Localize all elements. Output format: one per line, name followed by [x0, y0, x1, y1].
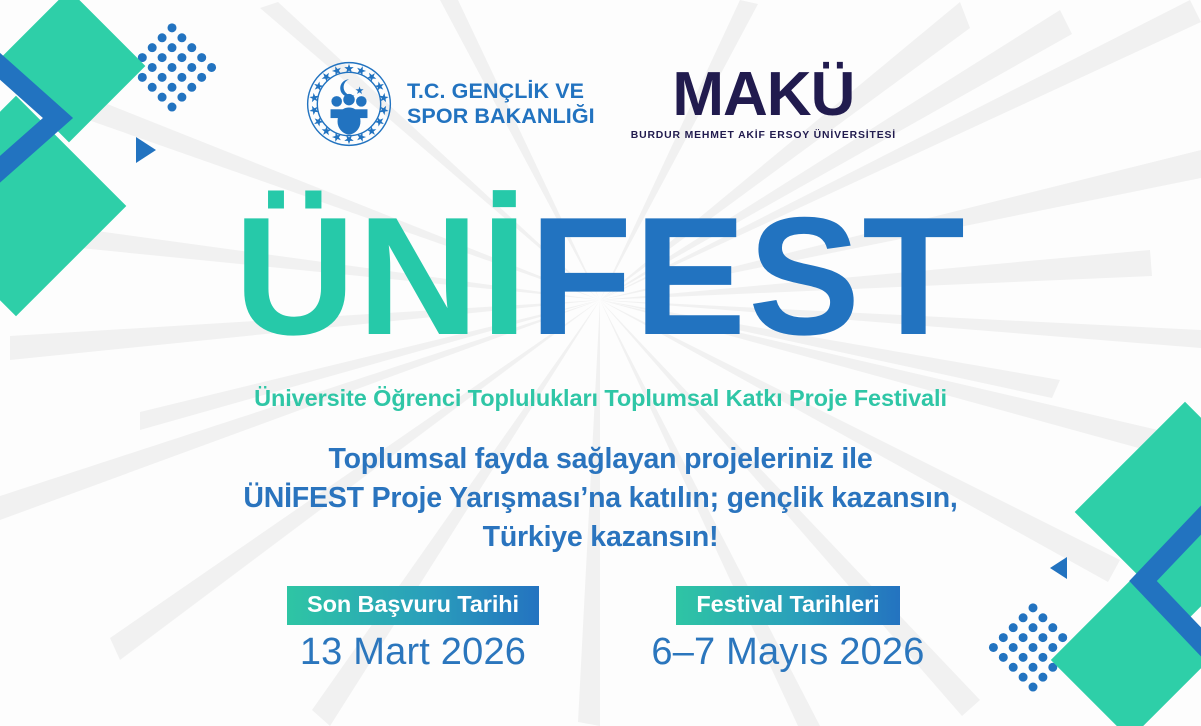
poster-canvas: .dotgrid i{width:9px;height:9px;}	[0, 0, 1201, 726]
ministry-line1: T.C. GENÇLİK VE	[407, 79, 595, 104]
body-line-3: Türkiye kazansın!	[0, 518, 1201, 557]
ministry-line2: SPOR BAKANLIĞI	[407, 104, 595, 129]
main-title: ÜNİFEST	[0, 192, 1201, 360]
body-copy: Toplumsal fayda sağlayan projeleriniz il…	[0, 440, 1201, 557]
tc-genclik-spor-bakanligi-emblem-icon	[305, 60, 393, 148]
festival-date-value: 6–7 Mayıs 2026	[623, 631, 953, 674]
deadline-badge-label: Son Başvuru Tarihi	[287, 586, 539, 625]
maku-subtitle: BURDUR MEHMET AKİF ERSOY ÜNİVERSİTESİ	[631, 130, 896, 141]
university-logo: MAKÜ BURDUR MEHMET AKİF ERSOY ÜNİVERSİTE…	[631, 70, 896, 141]
body-line-2: ÜNİFEST Proje Yarışması’na katılın; genç…	[0, 479, 1201, 518]
deadline-date-value: 13 Mart 2026	[248, 631, 578, 674]
ministry-logo: T.C. GENÇLİK VE SPOR BAKANLIĞI	[305, 60, 595, 148]
title-part-teal: ÜNİ	[234, 182, 529, 370]
date-block-deadline: Son Başvuru Tarihi 13 Mart 2026	[248, 586, 578, 674]
header-logos: T.C. GENÇLİK VE SPOR BAKANLIĞI MAKÜ BURD…	[0, 60, 1201, 148]
festival-badge-label: Festival Tarihleri	[676, 586, 899, 625]
date-blocks: Son Başvuru Tarihi 13 Mart 2026 Festival…	[0, 586, 1201, 674]
maku-wordmark: MAKÜ	[631, 70, 896, 121]
title-tagline: Üniversite Öğrenci Toplulukları Toplumsa…	[0, 385, 1201, 412]
blue-triangle-left-icon	[1050, 557, 1067, 579]
date-block-festival: Festival Tarihleri 6–7 Mayıs 2026	[623, 586, 953, 674]
title-part-blue: FEST	[529, 182, 966, 370]
ministry-logo-text: T.C. GENÇLİK VE SPOR BAKANLIĞI	[407, 79, 595, 130]
body-line-1: Toplumsal fayda sağlayan projeleriniz il…	[0, 440, 1201, 479]
